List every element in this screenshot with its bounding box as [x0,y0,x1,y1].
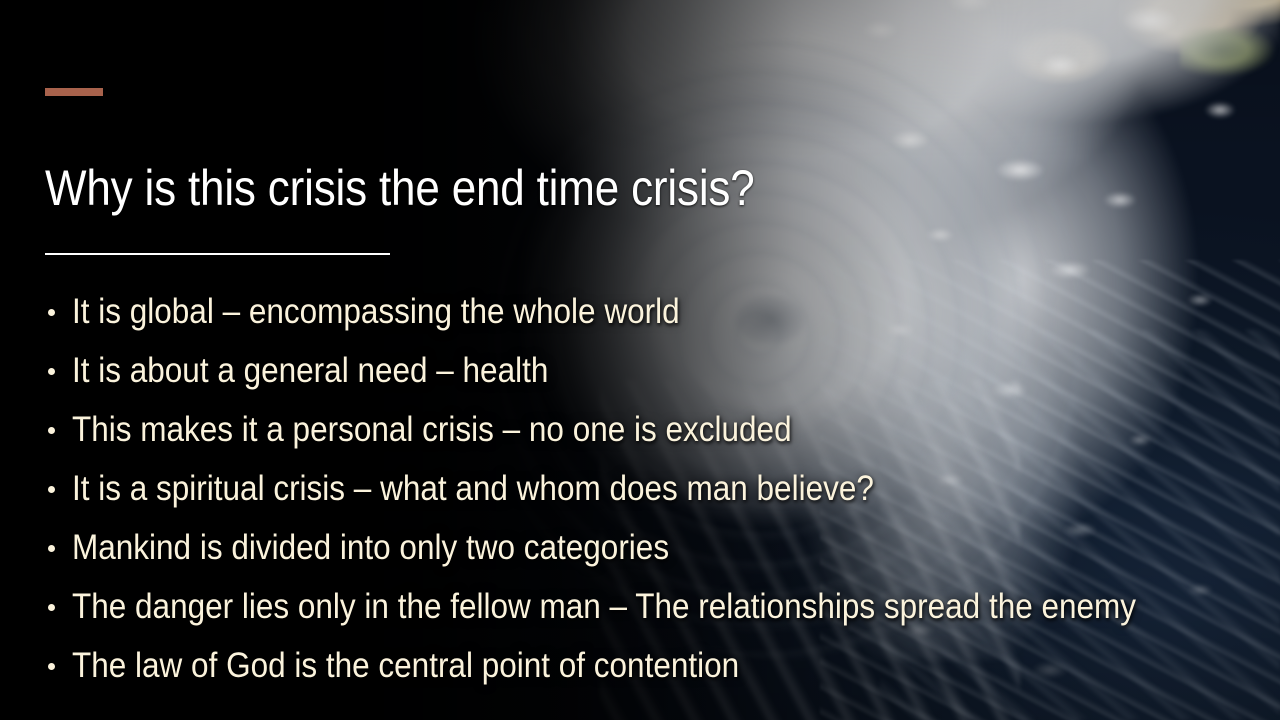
bullet-dot-icon [48,368,55,375]
list-item-label: Mankind is divided into only two categor… [72,524,669,571]
presentation-slide: Why is this crisis the end time crisis? … [0,0,1280,720]
list-item-label: The danger lies only in the fellow man –… [72,583,1136,630]
bullet-dot-icon [48,545,55,552]
list-item: It is about a general need – health [45,347,1245,406]
bullet-dot-icon [48,427,55,434]
list-item: This makes it a personal crisis – no one… [45,406,1245,465]
list-item-label: The law of God is the central point of c… [72,642,739,689]
title-underline-rule [45,253,390,255]
list-item-label: It is global – encompassing the whole wo… [72,288,680,335]
list-item: Mankind is divided into only two categor… [45,524,1245,583]
slide-content: Why is this crisis the end time crisis? … [0,0,1280,720]
bullet-dot-icon [48,309,55,316]
bullet-dot-icon [48,663,55,670]
list-item: The danger lies only in the fellow man –… [45,583,1245,642]
list-item-label: It is a spiritual crisis – what and whom… [72,465,874,512]
list-item-label: It is about a general need – health [72,347,548,394]
bullet-dot-icon [48,604,55,611]
accent-bar [45,88,103,96]
page-title: Why is this crisis the end time crisis? [45,163,755,213]
bullet-list: It is global – encompassing the whole wo… [45,288,1245,701]
list-item-label: This makes it a personal crisis – no one… [72,406,792,453]
list-item: The law of God is the central point of c… [45,642,1245,701]
list-item: It is a spiritual crisis – what and whom… [45,465,1245,524]
list-item: It is global – encompassing the whole wo… [45,288,1245,347]
bullet-dot-icon [48,486,55,493]
